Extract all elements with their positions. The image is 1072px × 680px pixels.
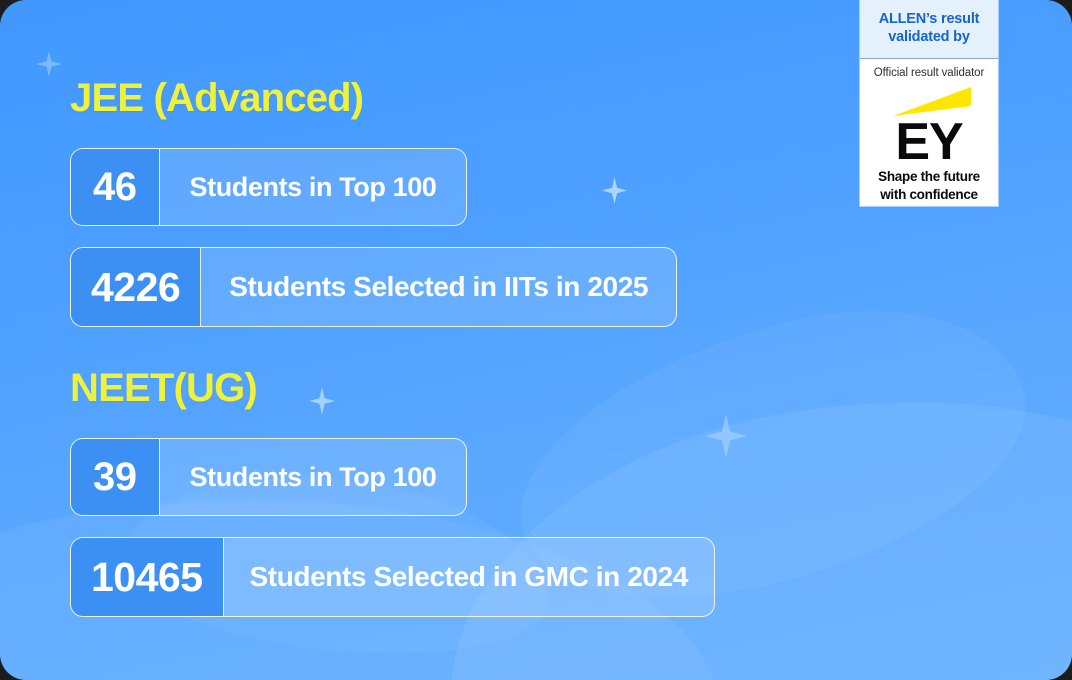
ey-header-line2: validated by [866, 28, 992, 46]
ey-logo: EY [873, 81, 985, 168]
stat-label: Students Selected in IITs in 2025 [201, 248, 676, 326]
ey-subtitle: Official result validator [874, 67, 984, 79]
ey-badge-header: ALLEN’s result validated by [860, 0, 998, 58]
stat-pill-jee-iits[interactable]: 4226 Students Selected in IITs in 2025 [70, 247, 677, 327]
ey-tagline-line2: with confidence [880, 187, 978, 203]
stat-label: Students in Top 100 [160, 149, 467, 225]
svg-text:EY: EY [895, 113, 963, 163]
ey-badge-body: Official result validator EY Shape the f… [860, 59, 998, 206]
stat-value: 46 [71, 149, 160, 225]
stat-pill-jee-top100[interactable]: 46 Students in Top 100 [70, 148, 467, 226]
ey-header-line1: ALLEN’s result [866, 10, 992, 28]
ey-tagline-line1: Shape the future [878, 169, 980, 185]
ey-validator-badge[interactable]: ALLEN’s result validated by Official res… [860, 0, 998, 206]
stat-label: Students Selected in GMC in 2024 [224, 538, 714, 616]
screenshot-stage: JEE (Advanced) 46 Students in Top 100 42… [0, 0, 1072, 680]
stat-value: 39 [71, 439, 160, 515]
stat-pill-neet-gmc[interactable]: 10465 Students Selected in GMC in 2024 [70, 537, 715, 617]
stat-label: Students in Top 100 [160, 439, 467, 515]
stat-pill-neet-top100[interactable]: 39 Students in Top 100 [70, 438, 467, 516]
stat-value: 10465 [71, 538, 224, 616]
sparkle-icon [36, 51, 62, 77]
stat-value: 4226 [71, 248, 201, 326]
results-card: JEE (Advanced) 46 Students in Top 100 42… [0, 0, 1072, 680]
ey-logo-icon: EY [873, 81, 985, 163]
section-title-neet: NEET(UG) [70, 368, 257, 408]
section-title-jee: JEE (Advanced) [70, 78, 363, 118]
